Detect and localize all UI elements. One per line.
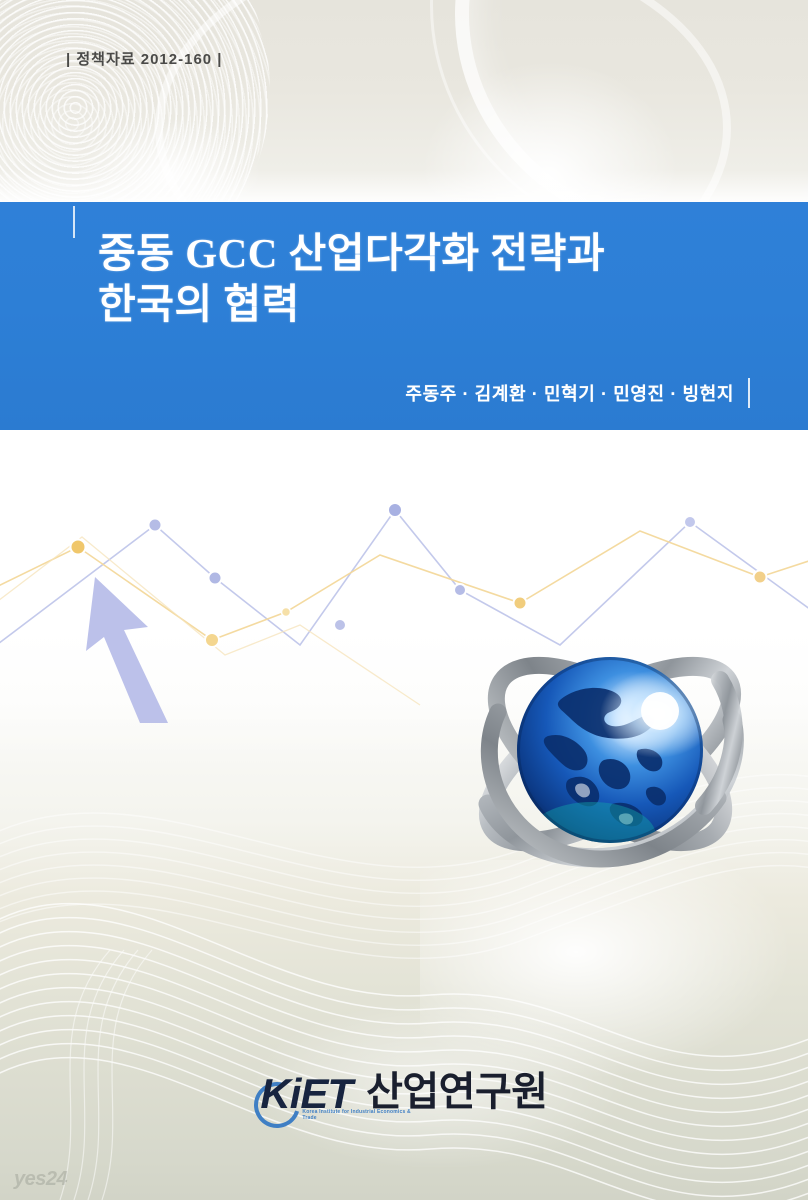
watermark: yes24	[14, 1168, 67, 1191]
title-line-1: 중동 GCC 산업다각화 전략과	[98, 228, 738, 279]
globe-graphic	[452, 608, 772, 908]
title-band-tick-mark	[73, 206, 75, 238]
book-cover: | 정책자료 2012-160 | 중동 GCC 산업다각화 전략과 한국의 협…	[0, 0, 808, 1200]
authors-list: 주동주 · 김계환 · 민혁기 · 민영진 · 빙현지	[405, 380, 734, 406]
page-title: 중동 GCC 산업다각화 전략과 한국의 협력	[98, 228, 738, 330]
title-line-2: 한국의 협력	[98, 279, 738, 330]
upward-arrow-icon	[86, 577, 168, 723]
publisher-logo: KiET Korea Institute for Industrial Econ…	[0, 1072, 808, 1115]
kiet-subtitle: Korea Institute for Industrial Economics…	[302, 1109, 412, 1121]
chart-series-orange-line-secondary	[0, 537, 420, 705]
authors-tick-mark	[748, 378, 750, 408]
kiet-logo-mark: KiET Korea Institute for Industrial Econ…	[260, 1073, 352, 1115]
authors-row: 주동주 · 김계환 · 민혁기 · 민영진 · 빙현지	[405, 378, 750, 408]
document-code: | 정책자료 2012-160 |	[66, 48, 223, 69]
